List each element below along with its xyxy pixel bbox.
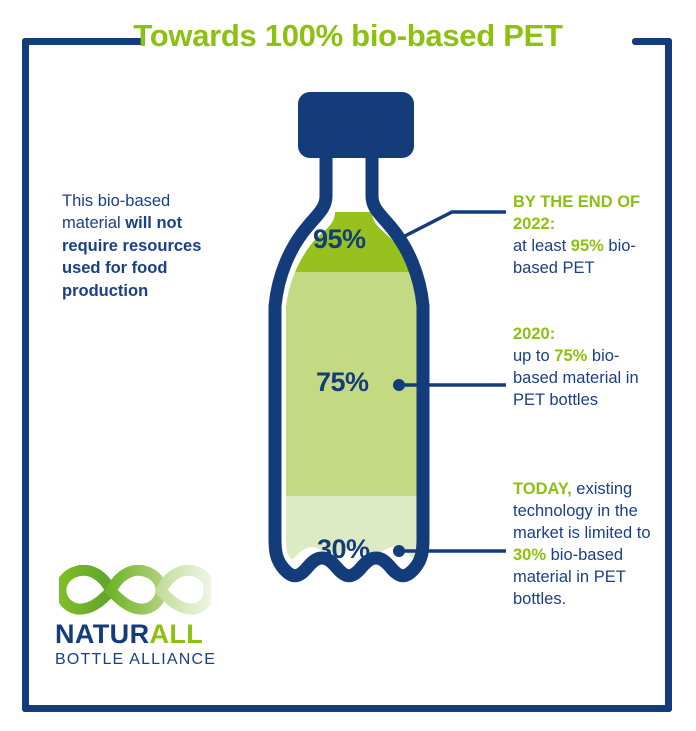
callout-today-highlight: 30% [513, 546, 546, 564]
infinity-loops-icon [59, 565, 211, 617]
callout-2022-heading: BY THE END OF 2022: [513, 193, 640, 233]
callout-2020: 2020: up to 75% bio-based material in PE… [513, 324, 663, 412]
callout-today-heading: TODAY, [513, 480, 572, 498]
callout-2020-heading: 2020: [513, 325, 555, 343]
logo: NATURALL BOTTLE ALLIANCE [55, 565, 216, 669]
logo-wordmark: NATURALL [55, 619, 216, 650]
logo-word-primary: NATUR [55, 619, 149, 649]
callout-2022-body-before: at least [513, 237, 571, 255]
callout-today: TODAY, existing technology in the market… [513, 479, 669, 611]
logo-subtitle: BOTTLE ALLIANCE [55, 651, 216, 669]
callout-2020-highlight: 75% [554, 347, 587, 365]
callout-2022-highlight: 95% [571, 237, 604, 255]
logo-word-accent: ALL [149, 619, 203, 649]
infographic-canvas: Towards 100% bio-based PET This bio-base… [0, 0, 696, 731]
connector-30 [393, 545, 506, 557]
connector-95 [393, 212, 506, 245]
callout-2022: BY THE END OF 2022: at least 95% bio-bas… [513, 192, 663, 280]
callout-2020-body-before: up to [513, 347, 554, 365]
connector-75 [393, 379, 506, 391]
